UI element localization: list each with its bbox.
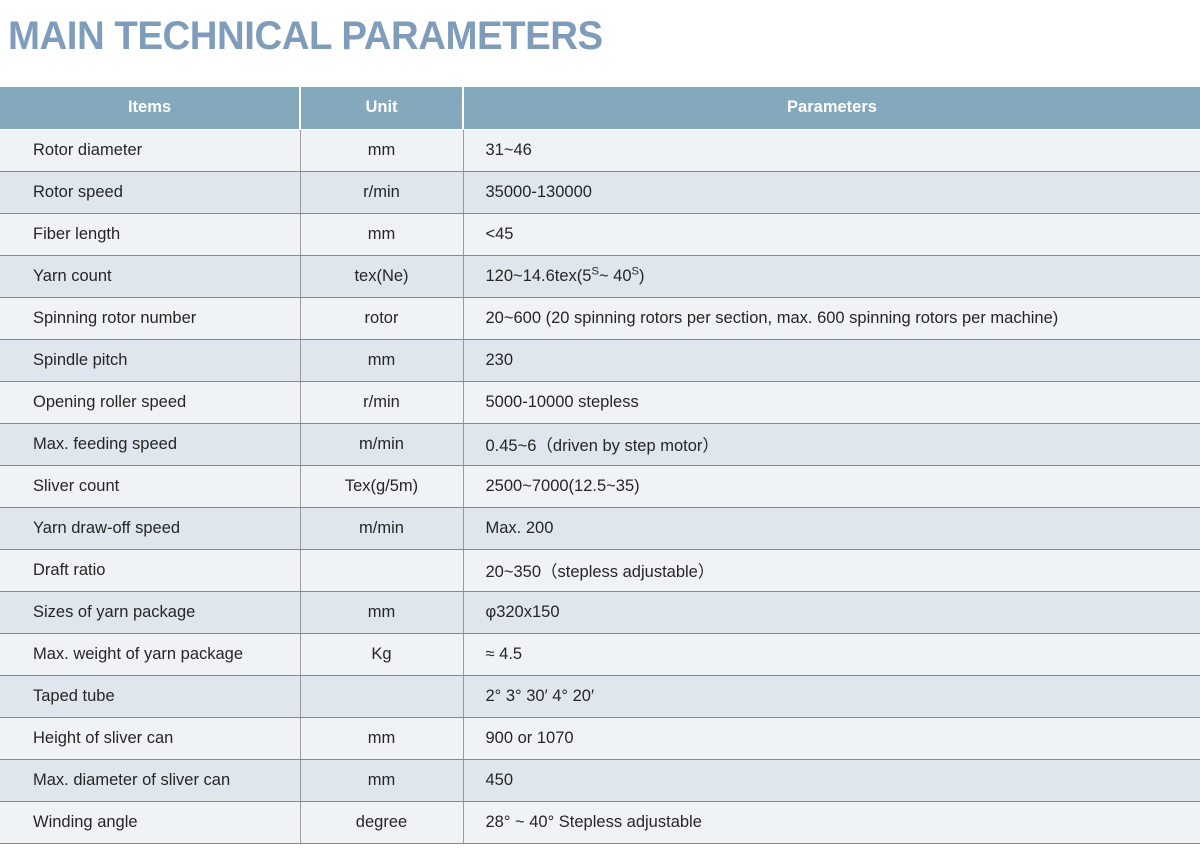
cell-parameter: 2° 3° 30′ 4° 20′ bbox=[463, 675, 1200, 717]
cell-unit: m/min bbox=[300, 507, 463, 549]
table-row: Fiber lengthmm<45 bbox=[0, 213, 1200, 255]
table-header: Items Unit Parameters bbox=[0, 87, 1200, 129]
cell-unit: mm bbox=[300, 129, 463, 171]
cell-unit: m/min bbox=[300, 423, 463, 465]
cell-item: Fiber length bbox=[0, 213, 300, 255]
cell-parameter: 120~14.6tex(5S~ 40S) bbox=[463, 255, 1200, 297]
cell-parameter: 2500~7000(12.5~35) bbox=[463, 465, 1200, 507]
table-row: Max. feeding speedm/min0.45~6（driven by … bbox=[0, 423, 1200, 465]
page-title: MAIN TECHNICAL PARAMETERS bbox=[8, 14, 603, 59]
cell-unit: mm bbox=[300, 759, 463, 801]
cell-unit: mm bbox=[300, 591, 463, 633]
table-row: Yarn counttex(Ne)120~14.6tex(5S~ 40S) bbox=[0, 255, 1200, 297]
table-row: Sliver countTex(g/5m)2500~7000(12.5~35) bbox=[0, 465, 1200, 507]
column-header-parameters: Parameters bbox=[463, 87, 1200, 129]
column-header-unit: Unit bbox=[300, 87, 463, 129]
cell-item: Rotor diameter bbox=[0, 129, 300, 171]
cell-unit: rotor bbox=[300, 297, 463, 339]
cell-item: Yarn draw-off speed bbox=[0, 507, 300, 549]
cell-parameter: 20~600 (20 spinning rotors per section, … bbox=[463, 297, 1200, 339]
cell-parameter: <45 bbox=[463, 213, 1200, 255]
cell-unit: Kg bbox=[300, 633, 463, 675]
cell-item: Opening roller speed bbox=[0, 381, 300, 423]
cell-parameter: 31~46 bbox=[463, 129, 1200, 171]
cell-item: Taped tube bbox=[0, 675, 300, 717]
cell-unit: r/min bbox=[300, 381, 463, 423]
cell-parameter: 900 or 1070 bbox=[463, 717, 1200, 759]
cell-item: Sizes of yarn package bbox=[0, 591, 300, 633]
cell-parameter: 35000-130000 bbox=[463, 171, 1200, 213]
cell-item: Max. feeding speed bbox=[0, 423, 300, 465]
technical-parameters-table: Items Unit Parameters Rotor diametermm31… bbox=[0, 87, 1200, 844]
table-row: Spindle pitchmm230 bbox=[0, 339, 1200, 381]
cell-unit: mm bbox=[300, 717, 463, 759]
table-row: Spinning rotor numberrotor20~600 (20 spi… bbox=[0, 297, 1200, 339]
cell-parameter: 5000-10000 stepless bbox=[463, 381, 1200, 423]
cell-item: Max. weight of yarn package bbox=[0, 633, 300, 675]
cell-parameter: φ320x150 bbox=[463, 591, 1200, 633]
cell-item: Winding angle bbox=[0, 801, 300, 843]
table-row: Rotor speedr/min35000-130000 bbox=[0, 171, 1200, 213]
table-row: Max. diameter of sliver canmm450 bbox=[0, 759, 1200, 801]
cell-parameter: 450 bbox=[463, 759, 1200, 801]
cell-item: Rotor speed bbox=[0, 171, 300, 213]
cell-unit: r/min bbox=[300, 171, 463, 213]
table-row: Yarn draw-off speedm/minMax. 200 bbox=[0, 507, 1200, 549]
cell-unit: Tex(g/5m) bbox=[300, 465, 463, 507]
cell-parameter: ≈ 4.5 bbox=[463, 633, 1200, 675]
header-row: Items Unit Parameters bbox=[0, 87, 1200, 129]
specification-page: MAIN TECHNICAL PARAMETERS Items Unit Par… bbox=[0, 0, 1200, 850]
column-header-items: Items bbox=[0, 87, 300, 129]
table-row: Rotor diametermm31~46 bbox=[0, 129, 1200, 171]
cell-item: Spindle pitch bbox=[0, 339, 300, 381]
cell-parameter: 230 bbox=[463, 339, 1200, 381]
cell-item: Draft ratio bbox=[0, 549, 300, 591]
table-row: Height of sliver canmm900 or 1070 bbox=[0, 717, 1200, 759]
cell-parameter: 28° ~ 40° Stepless adjustable bbox=[463, 801, 1200, 843]
table-row: Winding angledegree28° ~ 40° Stepless ad… bbox=[0, 801, 1200, 843]
table-row: Sizes of yarn packagemmφ320x150 bbox=[0, 591, 1200, 633]
table-row: Max. weight of yarn packageKg≈ 4.5 bbox=[0, 633, 1200, 675]
cell-unit bbox=[300, 675, 463, 717]
table-row: Opening roller speedr/min5000-10000 step… bbox=[0, 381, 1200, 423]
cell-parameter: Max. 200 bbox=[463, 507, 1200, 549]
cell-item: Sliver count bbox=[0, 465, 300, 507]
table-row: Draft ratio20~350（stepless adjustable） bbox=[0, 549, 1200, 591]
table-body: Rotor diametermm31~46Rotor speedr/min350… bbox=[0, 129, 1200, 843]
cell-item: Max. diameter of sliver can bbox=[0, 759, 300, 801]
cell-item: Spinning rotor number bbox=[0, 297, 300, 339]
cell-unit: degree bbox=[300, 801, 463, 843]
cell-unit: tex(Ne) bbox=[300, 255, 463, 297]
cell-unit: mm bbox=[300, 339, 463, 381]
cell-unit bbox=[300, 549, 463, 591]
cell-parameter: 20~350（stepless adjustable） bbox=[463, 549, 1200, 591]
cell-item: Yarn count bbox=[0, 255, 300, 297]
cell-unit: mm bbox=[300, 213, 463, 255]
cell-item: Height of sliver can bbox=[0, 717, 300, 759]
cell-parameter: 0.45~6（driven by step motor） bbox=[463, 423, 1200, 465]
table-row: Taped tube2° 3° 30′ 4° 20′ bbox=[0, 675, 1200, 717]
